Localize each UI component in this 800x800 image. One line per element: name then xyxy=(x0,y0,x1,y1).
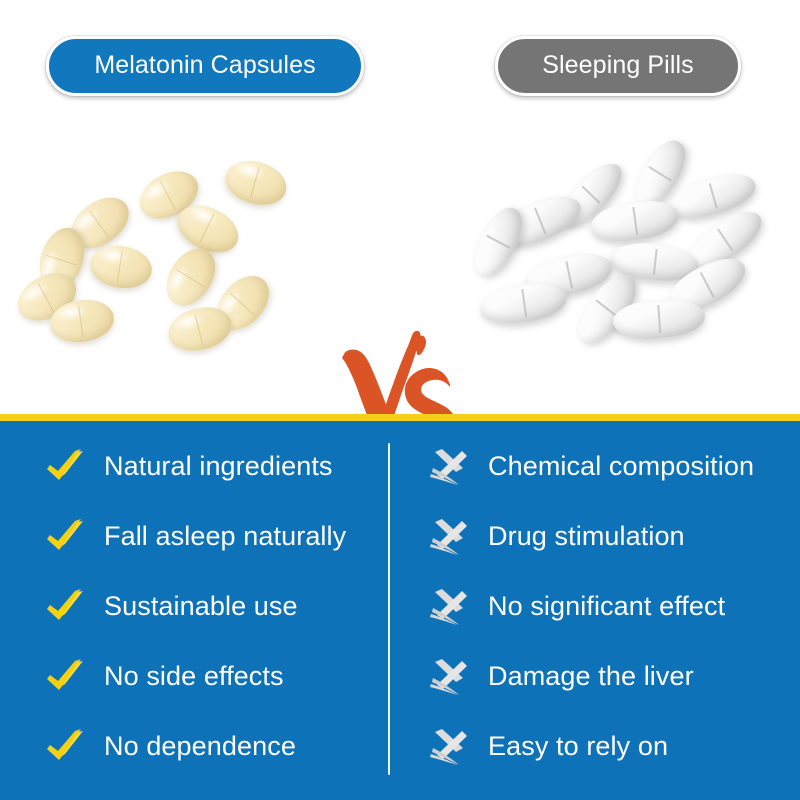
check-icon xyxy=(44,656,86,698)
list-item[interactable]: No side effects xyxy=(44,642,384,712)
photo-row xyxy=(0,150,800,380)
list-item-label: Chemical composition xyxy=(488,452,754,482)
list-item[interactable]: Drug stimulation xyxy=(428,502,778,572)
melatonin-capsules-photo xyxy=(20,150,340,380)
cross-icon xyxy=(428,726,470,768)
list-item-label: Sustainable use xyxy=(104,592,298,622)
badge-sleeping-pills-label: Sleeping Pills xyxy=(542,51,694,80)
list-item[interactable]: Chemical composition xyxy=(428,432,778,502)
list-item-label: No dependence xyxy=(104,732,296,762)
check-icon xyxy=(44,726,86,768)
cross-icon xyxy=(428,656,470,698)
list-item[interactable]: No dependence xyxy=(44,712,384,782)
drawbacks-column: Chemical composition Drug stimulation xyxy=(428,432,778,782)
list-item[interactable]: Sustainable use xyxy=(44,572,384,642)
list-item[interactable]: Natural ingredients xyxy=(44,432,384,502)
cross-icon xyxy=(428,586,470,628)
badge-melatonin-capsules[interactable]: Melatonin Capsules xyxy=(46,36,364,96)
list-item-label: Natural ingredients xyxy=(104,452,333,482)
cross-icon xyxy=(428,516,470,558)
column-divider xyxy=(388,443,390,775)
list-item-label: No significant effect xyxy=(488,592,725,622)
check-icon xyxy=(44,446,86,488)
list-item-label: No side effects xyxy=(104,662,284,692)
list-item[interactable]: No significant effect xyxy=(428,572,778,642)
list-item-label: Fall asleep naturally xyxy=(104,522,346,552)
cross-icon xyxy=(428,446,470,488)
list-item-label: Damage the liver xyxy=(488,662,694,692)
list-item[interactable]: Damage the liver xyxy=(428,642,778,712)
check-icon xyxy=(44,586,86,628)
badge-melatonin-capsules-label: Melatonin Capsules xyxy=(94,51,315,80)
comparison-infographic: Melatonin Capsules Sleeping Pills xyxy=(0,0,800,800)
list-item-label: Easy to rely on xyxy=(488,732,668,762)
benefits-column: Natural ingredients Fall asleep naturall… xyxy=(44,432,384,782)
check-icon xyxy=(44,516,86,558)
yellow-divider-rule xyxy=(0,414,800,421)
list-item[interactable]: Easy to rely on xyxy=(428,712,778,782)
sleeping-pills-photo xyxy=(455,150,785,380)
list-item-label: Drug stimulation xyxy=(488,522,685,552)
badge-sleeping-pills[interactable]: Sleeping Pills xyxy=(495,36,741,96)
list-item[interactable]: Fall asleep naturally xyxy=(44,502,384,572)
